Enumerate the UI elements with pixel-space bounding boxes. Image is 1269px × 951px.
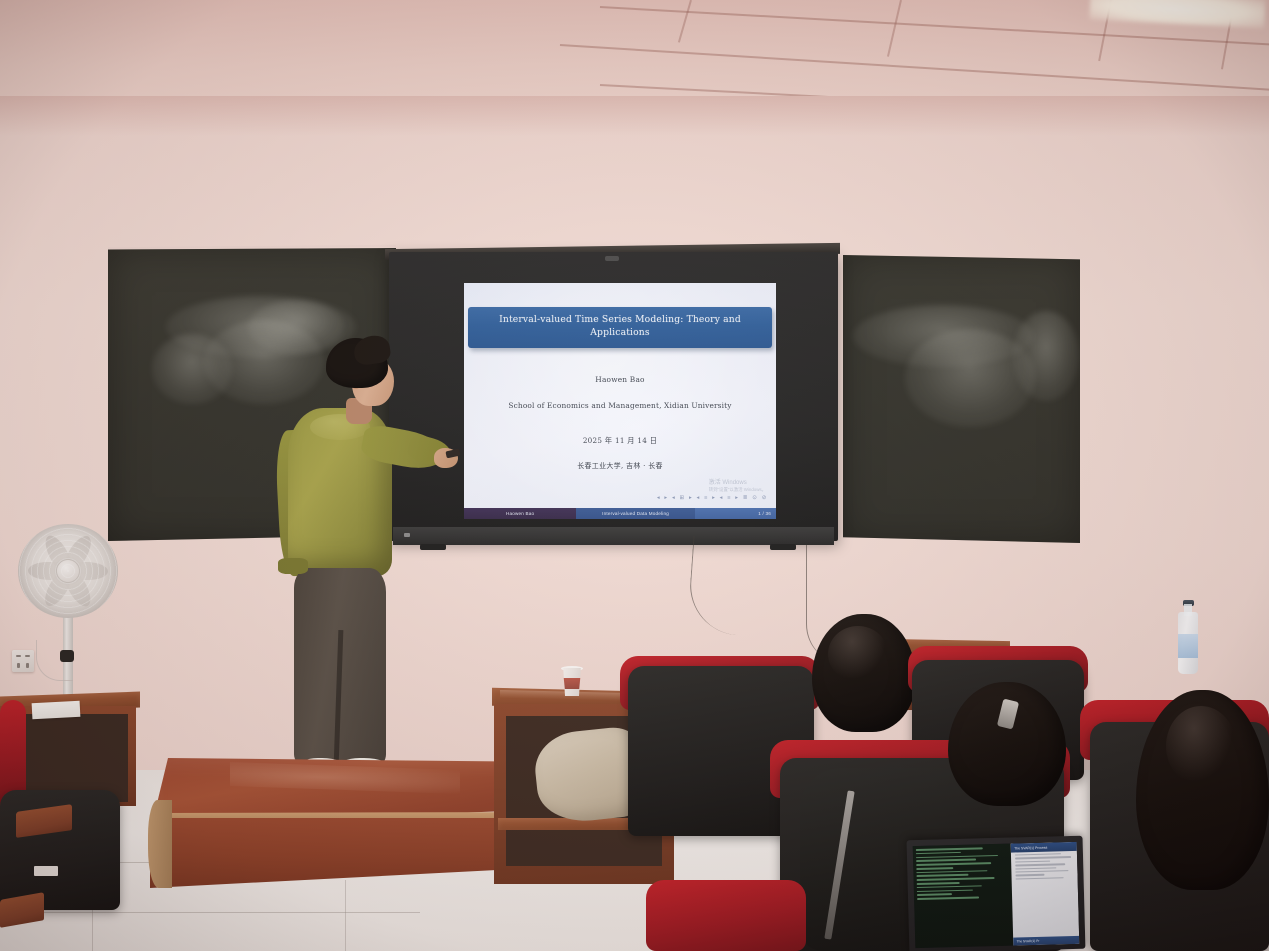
- slide-date: 2025 年 11 月 14 日: [464, 436, 776, 446]
- seat-number-tag: [34, 866, 58, 876]
- chalkboard-right-panel: [843, 255, 1080, 543]
- document-title: The SVAR(1) Process: [1011, 842, 1077, 853]
- seat-front-left-rim[interactable]: [646, 880, 806, 951]
- watermark-line-1: 激活 Windows: [709, 479, 766, 487]
- paper-sheet: [32, 701, 81, 719]
- attendee-laptop[interactable]: The SVAR(1) Process The SVAR(1) Pr: [907, 836, 1086, 951]
- slide-footer: Haowen Bao Interval-valued Data Modeling…: [464, 508, 776, 519]
- fan-icon: [18, 524, 118, 618]
- footer-page-number: 1 / 36: [695, 508, 776, 519]
- audience-member-center-head: [812, 614, 916, 732]
- document-footer: The SVAR(1) Pr: [1014, 936, 1080, 946]
- cup-label: [563, 678, 581, 689]
- lecture-hall-photo: Interval-valued Time Series Modeling: Th…: [0, 0, 1269, 951]
- desk-left-panel: [10, 714, 128, 802]
- fan-switch-box[interactable]: [60, 650, 74, 662]
- slide-affiliation: School of Economics and Management, Xidi…: [464, 401, 776, 410]
- document-viewer-pane: The SVAR(1) Process The SVAR(1) Pr: [1011, 842, 1079, 946]
- footer-section: Interval-valued Data Modeling: [576, 508, 695, 519]
- code-editor-pane: [913, 844, 1014, 949]
- wall-outlet-icon: [12, 650, 34, 672]
- stage-platform-corner: [148, 800, 172, 888]
- laptop-screen: The SVAR(1) Process The SVAR(1) Pr: [913, 842, 1080, 948]
- audience-member-far-right-head: [1136, 690, 1269, 890]
- presentation-slide: Interval-valued Time Series Modeling: Th…: [464, 283, 776, 519]
- watermark-line-2: 转到"设置"以激活 Windows。: [709, 487, 766, 493]
- windows-activation-watermark: 激活 Windows 转到"设置"以激活 Windows。: [709, 479, 766, 493]
- slide-venue: 长春工业大学, 吉林 · 长春: [464, 461, 776, 471]
- camera-icon: [605, 256, 619, 261]
- footer-author: Haowen Bao: [464, 508, 576, 519]
- beamer-nav-symbols[interactable]: ◂ ▸ ◂ ⊞ ▸ ◂ ≡ ▸ ◂ ≡ ▸ ≣ ⊙ ⊘: [657, 495, 768, 501]
- slide-title: Interval-valued Time Series Modeling: Th…: [478, 313, 762, 340]
- presenter: [258, 330, 458, 800]
- bottle-label: [1178, 634, 1198, 658]
- slide-title-block: Interval-valued Time Series Modeling: Th…: [468, 307, 772, 348]
- slide-author: Haowen Bao: [464, 375, 776, 384]
